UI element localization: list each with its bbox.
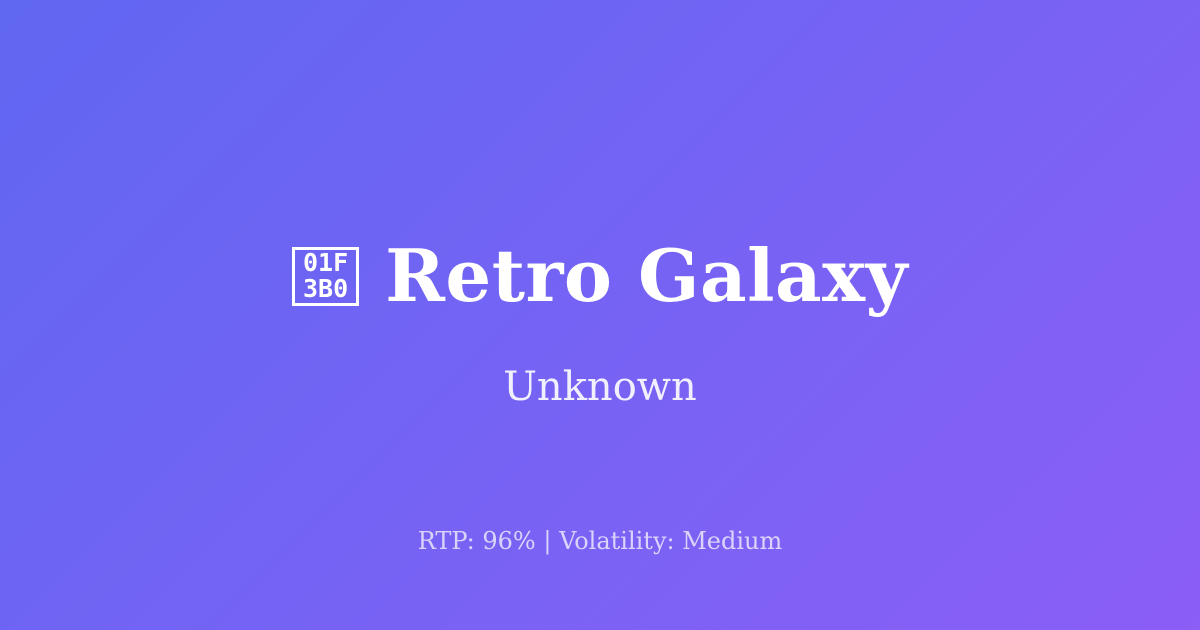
tofu-hex-top: 01F [303,250,348,276]
game-stats-footer: RTP: 96% | Volatility: Medium [0,525,1200,557]
game-info-card: 01F 3B0 Retro Galaxy Unknown RTP: 96% | … [0,0,1200,630]
tofu-hex-bottom: 3B0 [303,276,348,302]
page-title: Retro Galaxy [385,234,908,318]
slot-machine-icon: 01F 3B0 [292,247,359,306]
title-row: 01F 3B0 Retro Galaxy [0,232,1200,320]
game-provider-subtitle: Unknown [0,362,1200,412]
